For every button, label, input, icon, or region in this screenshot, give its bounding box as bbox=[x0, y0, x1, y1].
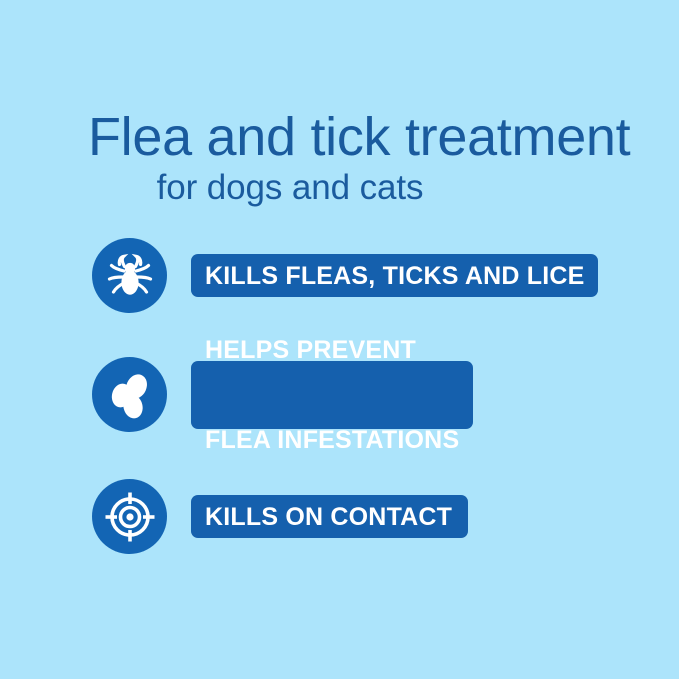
feature-label-pill: HELPS PREVENT FLEA INFESTATIONS bbox=[191, 361, 473, 429]
crosshair-target-icon bbox=[92, 479, 167, 554]
page-title: Flea and tick treatment bbox=[88, 108, 592, 166]
pill-line: HELPS PREVENT bbox=[205, 335, 459, 365]
feature-label-pill: KILLS ON CONTACT bbox=[191, 495, 468, 538]
feature-row: HELPS PREVENT FLEA INFESTATIONS bbox=[92, 357, 473, 432]
feature-row: KILLS ON CONTACT bbox=[92, 479, 468, 554]
pill-line: FLEA INFESTATIONS bbox=[205, 425, 459, 455]
heading-block: Flea and tick treatment for dogs and cat… bbox=[88, 108, 592, 208]
tick-icon bbox=[92, 238, 167, 313]
flea-eggs-icon bbox=[92, 357, 167, 432]
product-feature-panel: Flea and tick treatment for dogs and cat… bbox=[0, 0, 679, 679]
page-subtitle: for dogs and cats bbox=[88, 168, 592, 208]
pill-line: KILLS ON CONTACT bbox=[205, 502, 452, 532]
